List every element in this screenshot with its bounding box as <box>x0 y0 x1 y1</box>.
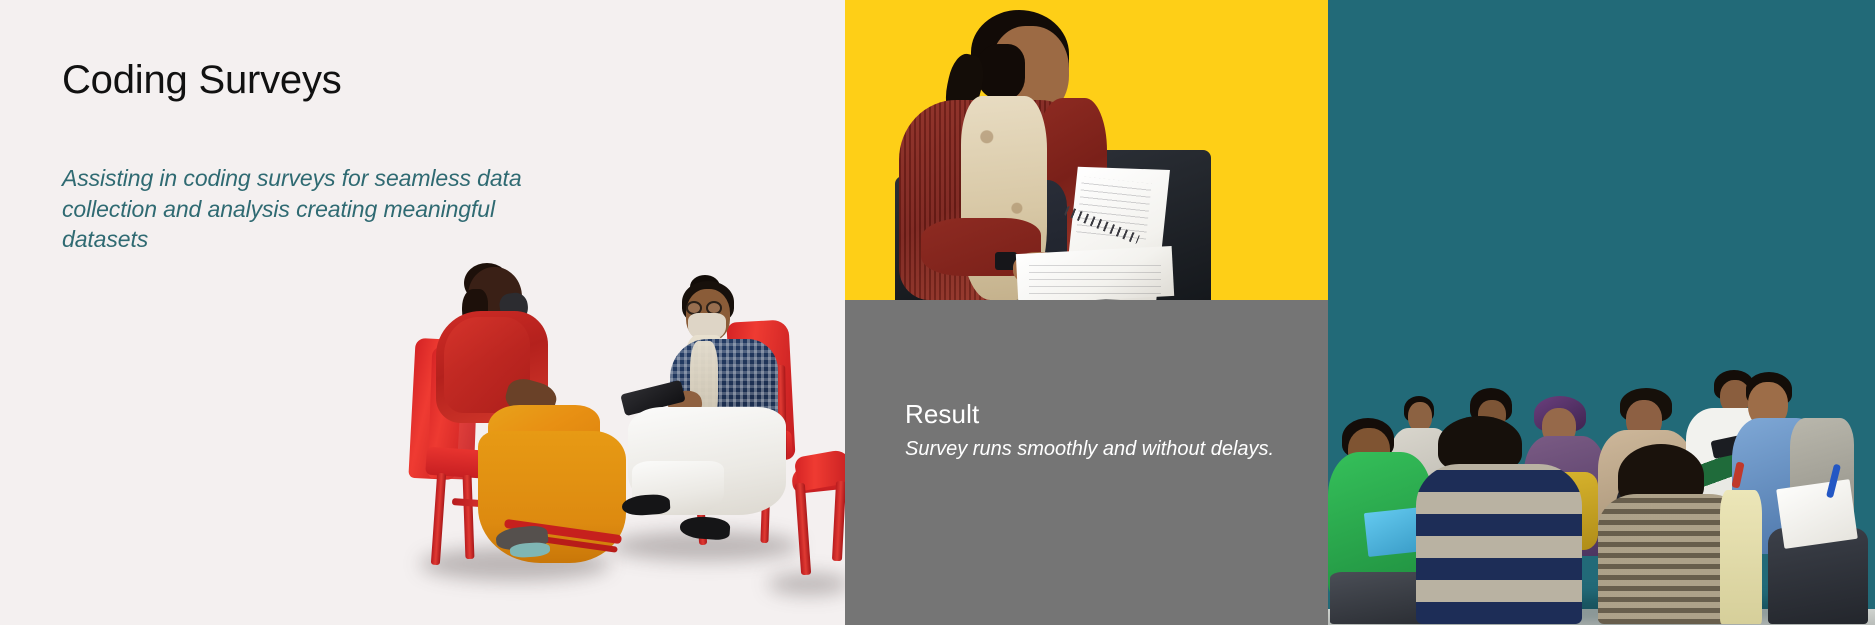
result-body-text: Survey runs smoothly and without delays. <box>905 436 1275 463</box>
result-heading: Result <box>905 399 979 430</box>
survey-interview-photo <box>400 255 845 625</box>
striped-sweater <box>1416 464 1582 624</box>
yellow-photo-block <box>845 0 1328 300</box>
page-subtitle: Assisting in coding surveys for seamless… <box>62 163 562 255</box>
right-teal-panel <box>1328 0 1875 625</box>
yellow-scarf <box>1720 490 1762 624</box>
red-chair-leg <box>463 475 475 559</box>
clipboard-form <box>1776 479 1858 549</box>
empty-red-chair-leg <box>832 481 845 561</box>
slide-root: Coding Surveys Assisting in coding surve… <box>0 0 1875 625</box>
shadow <box>768 573 845 595</box>
page-title: Coding Surveys <box>62 58 342 103</box>
survey-enumerator-photo <box>865 0 1328 300</box>
red-chair-leg <box>431 473 446 565</box>
left-intro-panel: Coding Surveys Assisting in coding surve… <box>0 0 845 625</box>
empty-red-chair-leg <box>795 483 811 575</box>
group-survey-photo <box>1328 360 1875 625</box>
trousers <box>1330 572 1430 624</box>
middle-column: Result Survey runs smoothly and without … <box>845 0 1328 625</box>
booklet-text-lines <box>1029 262 1161 294</box>
result-panel: Result Survey runs smoothly and without … <box>845 300 1328 625</box>
